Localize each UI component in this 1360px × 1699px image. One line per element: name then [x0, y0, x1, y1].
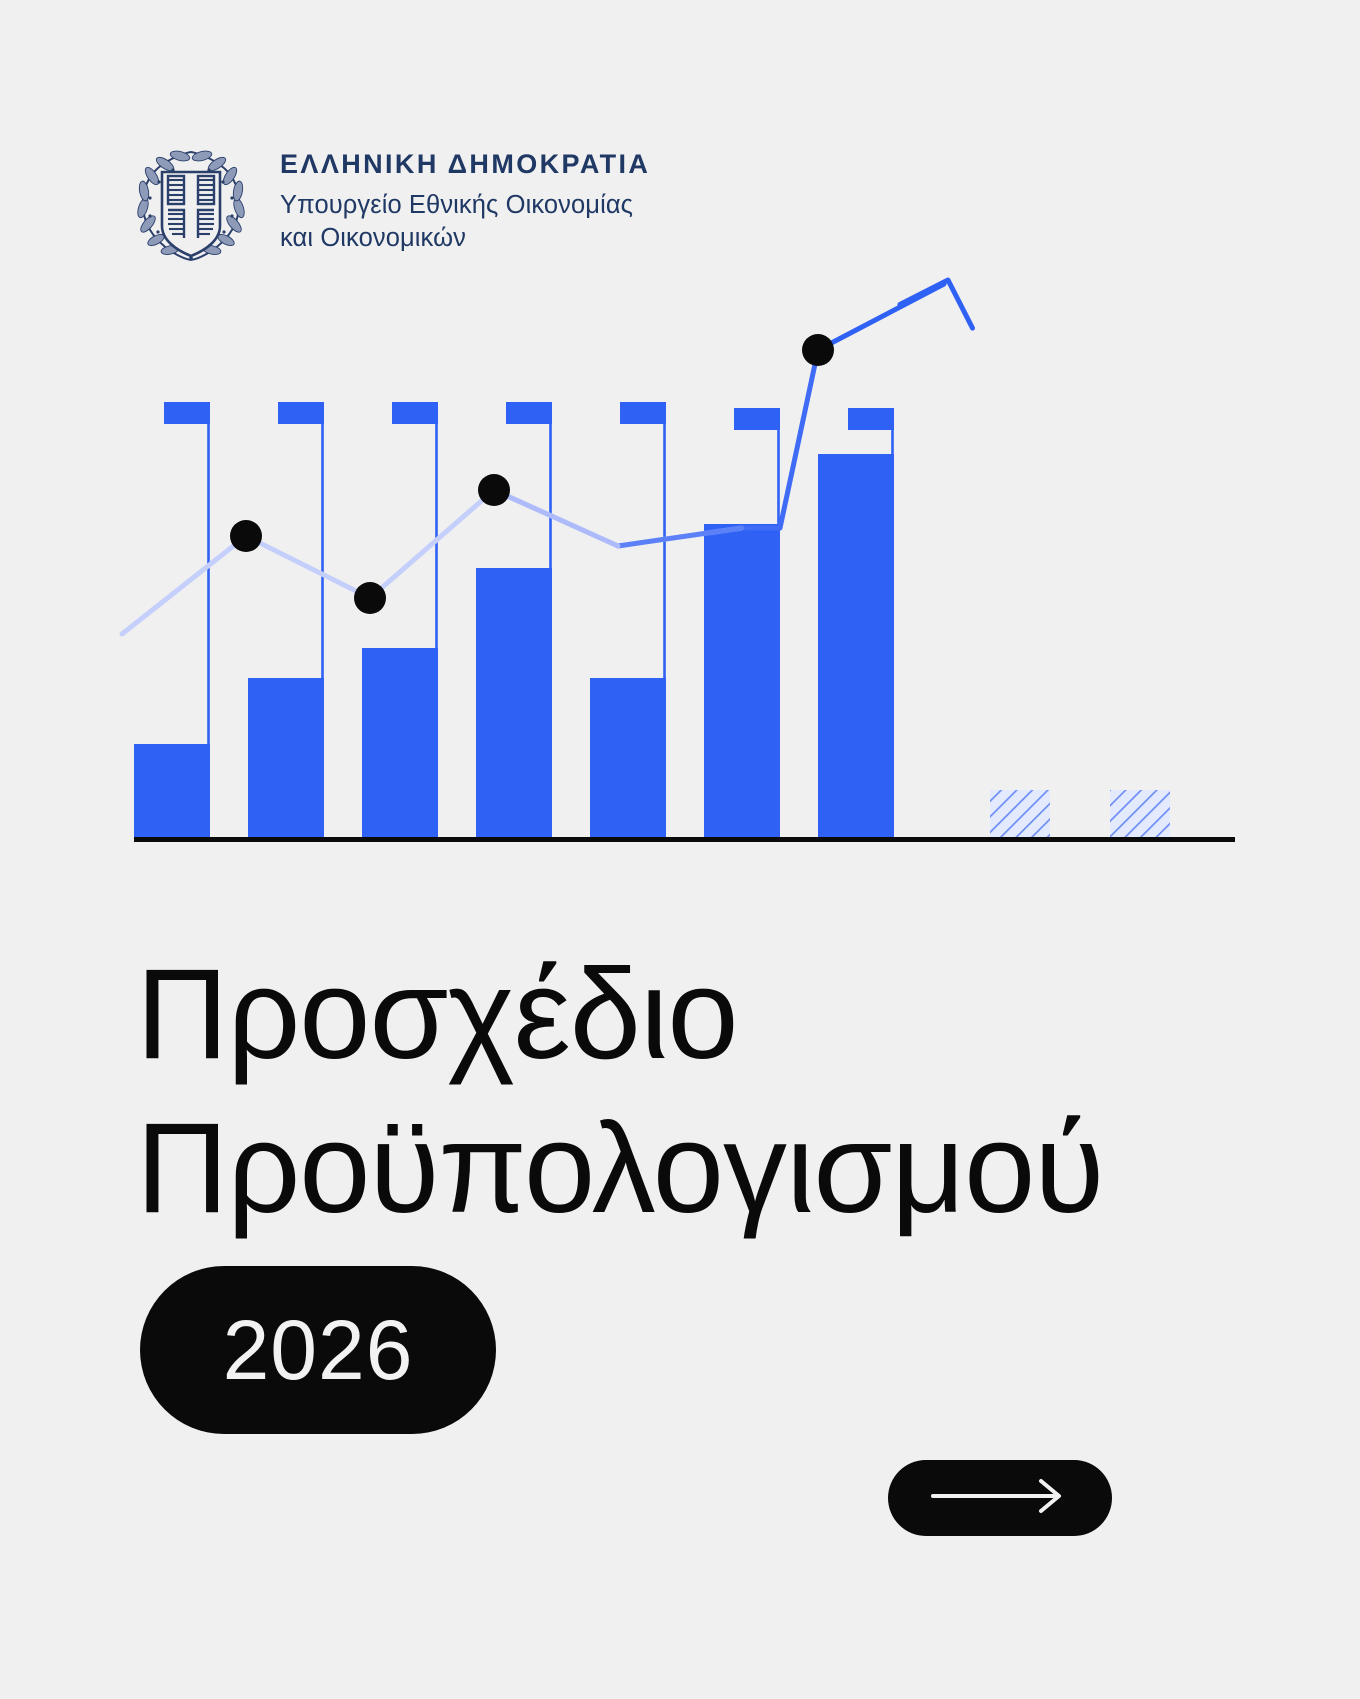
trend-dot — [478, 474, 510, 506]
growth-arrow-icon — [818, 280, 973, 353]
republic-title: ΕΛΛΗΝΙΚΗ ΔΗΜΟΚΡΑΤΙΑ — [280, 150, 650, 180]
trend-dot — [802, 334, 834, 366]
next-slide-button[interactable] — [888, 1460, 1112, 1536]
value-bar — [248, 678, 324, 838]
value-bar — [362, 648, 438, 838]
page-title-line-1: Προσχέδιο — [136, 943, 738, 1086]
hatched-future-bars — [990, 790, 1170, 838]
ministry-brand-text: ΕΛΛΗΝΙΚΗ ΔΗΜΟΚΡΑΤΙΑ Υπουργείο Εθνικής Οι… — [280, 142, 650, 256]
hatched-bar — [1110, 790, 1170, 838]
page-title-line-2: Προϋπολογισμού — [136, 1092, 1103, 1246]
hatched-bar — [990, 790, 1050, 838]
arrow-right-icon — [925, 1478, 1075, 1519]
value-bars — [134, 454, 894, 838]
budget-growth-chart — [0, 250, 1360, 870]
year-badge: 2026 — [140, 1266, 496, 1434]
trend-dot — [354, 582, 386, 614]
value-bar — [476, 568, 552, 838]
page-title: Προσχέδιο Προϋπολογισμού — [136, 938, 1103, 1245]
trend-dot — [230, 520, 262, 552]
value-bar — [818, 454, 894, 838]
value-bar — [134, 744, 210, 838]
value-bar — [590, 678, 666, 838]
year-badge-label: 2026 — [223, 1308, 414, 1392]
value-bar — [704, 524, 780, 838]
poster-root: ΕΛΛΗΝΙΚΗ ΔΗΜΟΚΡΑΤΙΑ Υπουργείο Εθνικής Οι… — [0, 0, 1360, 1699]
ministry-name-line-1: Υπουργείο Εθνικής Οικονομίας — [280, 189, 650, 223]
